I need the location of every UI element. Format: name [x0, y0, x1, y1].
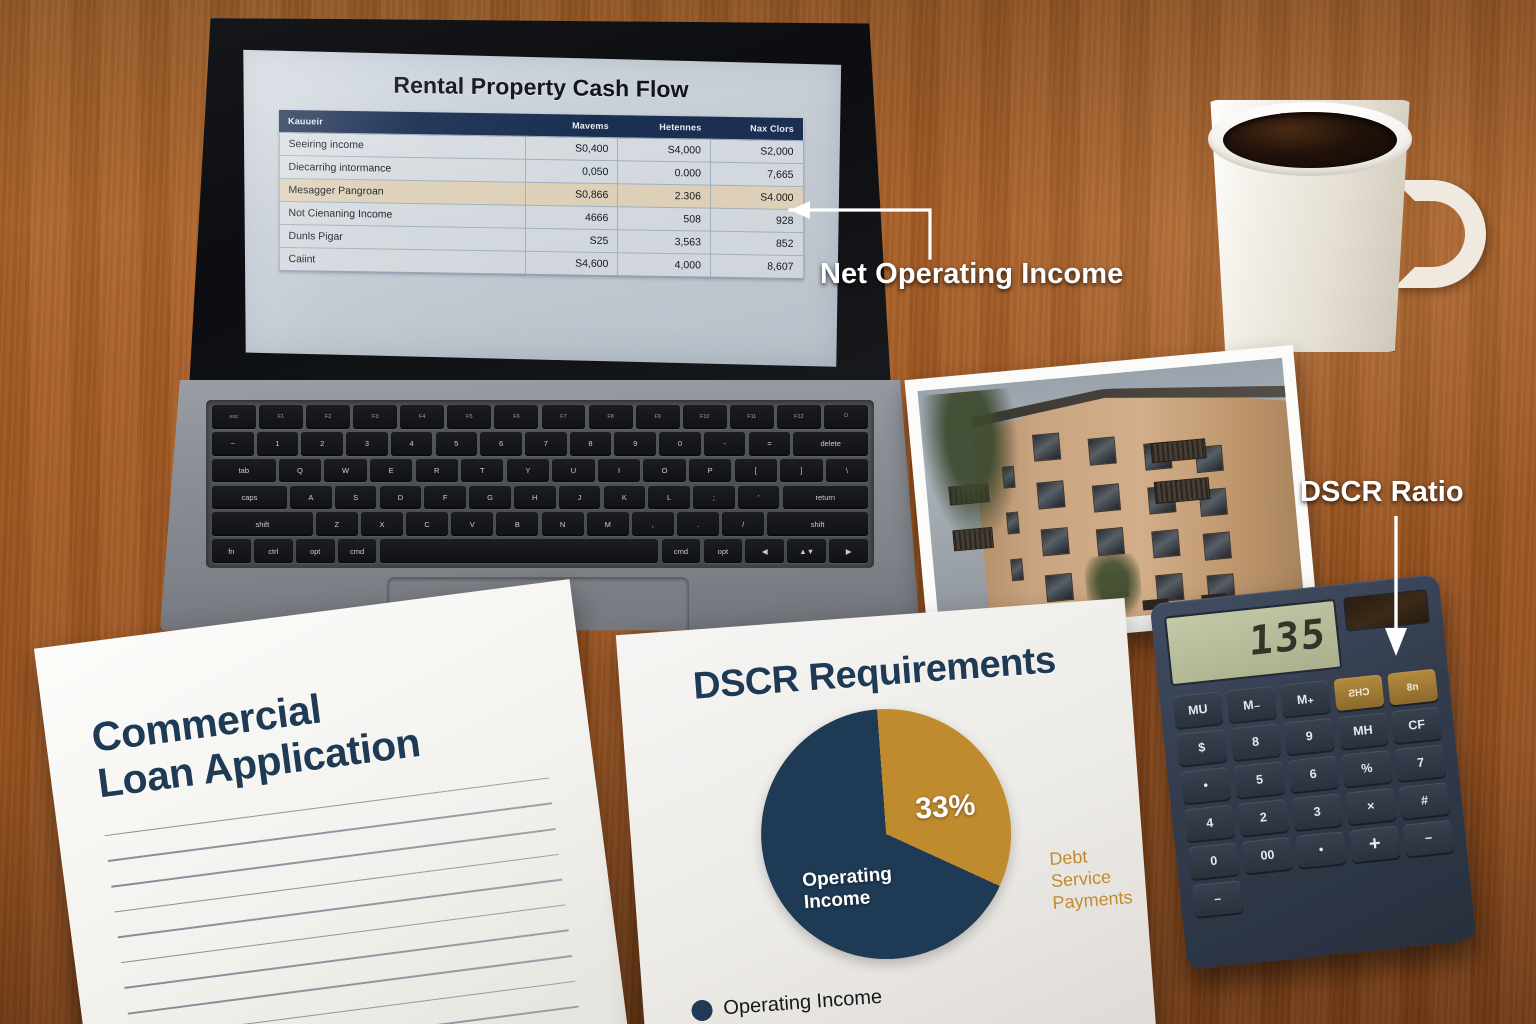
annotation-net-operating-income: Net Operating Income: [820, 258, 1123, 291]
keyboard-key[interactable]: shift: [767, 512, 868, 536]
pie-slice-percent-label: 33%: [914, 788, 976, 826]
chart-legend: Operating Income: [691, 968, 1124, 1023]
keyboard-key[interactable]: X: [361, 512, 403, 536]
loan-document-title: Commercial Loan Application: [89, 658, 545, 807]
keyboard-key[interactable]: G: [469, 486, 511, 510]
keyboard-key[interactable]: 6: [480, 432, 522, 456]
keyboard-key[interactable]: F4: [400, 405, 444, 429]
keyboard-key[interactable]: ◀: [745, 539, 784, 563]
row-value: S4.000: [710, 185, 803, 209]
pie-slices: [752, 700, 1020, 968]
coffee-mug: [1196, 92, 1496, 360]
desktop-calculator[interactable]: 135 MUM₋M₊ƧHƆ8n$89MHCF•56%7423×#000•+−–: [1150, 574, 1477, 970]
keyboard-function-row[interactable]: escF1F2F3F4F5F6F7F8F9F10F11F12⏻: [212, 405, 868, 429]
keyboard-key[interactable]: return: [783, 486, 868, 510]
keyboard-key[interactable]: cmd: [662, 539, 701, 563]
row-value: 3,563: [618, 230, 711, 254]
col-header-1: Mavems: [525, 114, 618, 138]
row-value: S4,600: [525, 251, 618, 276]
keyboard-key[interactable]: shift: [212, 512, 313, 536]
coffee-surface: [1223, 112, 1397, 168]
loan-form-blank-lines: [105, 777, 586, 1024]
form-blank-line: [108, 803, 552, 862]
form-blank-line: [128, 955, 572, 1014]
laptop: Rental Property Cash Flow Kauueir Mavems…: [160, 18, 920, 658]
calculator-keypad[interactable]: MUM₋M₊ƧHƆ8n$89MHCF•56%7423×#000•+−–: [1172, 669, 1458, 917]
keyboard-key[interactable]: M: [587, 512, 629, 536]
row-value: 2.306: [618, 184, 711, 208]
calculator-key[interactable]: 00: [1242, 837, 1293, 874]
col-header-2: Hetennes: [618, 115, 711, 139]
keyboard-key[interactable]: E: [370, 459, 412, 483]
calculator-display: 135: [1164, 599, 1342, 687]
calculator-key[interactable]: CF: [1391, 706, 1442, 743]
calculator-key[interactable]: $: [1176, 729, 1227, 766]
calculator-key[interactable]: +: [1349, 826, 1400, 863]
keyboard-row-qwerty[interactable]: tabQWERTYUIOP[]\: [212, 459, 868, 483]
keyboard-key[interactable]: F11: [730, 405, 774, 429]
keyboard-key[interactable]: opt: [704, 539, 743, 563]
keyboard-key[interactable]: F9: [636, 405, 680, 429]
row-value: S0,400: [525, 136, 618, 160]
keyboard-key[interactable]: F2: [306, 405, 350, 429]
laptop-screen[interactable]: Rental Property Cash Flow Kauueir Mavems…: [236, 47, 846, 369]
keyboard-key[interactable]: cmd: [338, 539, 377, 563]
form-blank-line: [114, 853, 558, 912]
keyboard-key[interactable]: 0: [659, 432, 701, 456]
keyboard-key[interactable]: T: [461, 459, 503, 483]
keyboard-key[interactable]: F8: [589, 405, 633, 429]
keyboard-key[interactable]: \: [826, 459, 868, 483]
row-value: 7,665: [710, 162, 803, 186]
annotation-dscr-ratio: DSCR Ratio: [1300, 476, 1464, 509]
keyboard-key[interactable]: delete: [793, 432, 868, 456]
keyboard-key[interactable]: caps: [212, 486, 287, 510]
legend-color-swatch: [691, 999, 713, 1021]
form-blank-line: [118, 879, 562, 938]
keyboard-key[interactable]: A: [290, 486, 332, 510]
solar-panel: [1343, 589, 1430, 632]
keyboard-key[interactable]: opt: [296, 539, 335, 563]
slide-title: Rental Property Cash Flow: [260, 70, 822, 106]
calculator-key[interactable]: %: [1341, 750, 1392, 787]
dscr-document-title: DSCR Requirements: [648, 636, 1100, 712]
keyboard-key[interactable]: 8: [570, 432, 612, 456]
keyboard-row-bottom-letters[interactable]: shiftZXCVBNM,./shift: [212, 512, 868, 536]
row-value: S0,866: [525, 182, 618, 206]
keyboard-key[interactable]: B: [496, 512, 538, 536]
keyboard-key[interactable]: L: [648, 486, 690, 510]
keyboard-key[interactable]: ': [738, 486, 780, 510]
keyboard-key[interactable]: O: [643, 459, 685, 483]
legend-label: Operating Income: [723, 986, 883, 1021]
calculator-key[interactable]: ƧHƆ: [1333, 674, 1384, 711]
keyboard-key[interactable]: ;: [693, 486, 735, 510]
spreadsheet-slide: Rental Property Cash Flow Kauueir Mavems…: [236, 47, 846, 369]
keyboard-key[interactable]: C: [406, 512, 448, 536]
calculator-key[interactable]: 8n: [1387, 669, 1438, 706]
keyboard-key[interactable]: F10: [683, 405, 727, 429]
keyboard-modifier-row[interactable]: fnctrloptcmdcmdopt◀▲▼▶: [212, 539, 868, 563]
row-value: 852: [710, 231, 803, 255]
form-blank-line: [124, 930, 568, 989]
keyboard-number-row[interactable]: ~1234567890-=delete: [212, 432, 868, 456]
calculator-key[interactable]: 7: [1395, 744, 1446, 781]
keyboard-key[interactable]: ▲▼: [787, 539, 826, 563]
keyboard-key[interactable]: ⏻: [824, 405, 868, 429]
keyboard-key[interactable]: 9: [614, 432, 656, 456]
calculator-key[interactable]: 4: [1184, 805, 1235, 842]
mug-handle: [1394, 180, 1486, 288]
row-value: 928: [710, 208, 803, 232]
calculator-display-value: 135: [1248, 611, 1327, 666]
row-value: 4,000: [618, 253, 711, 278]
keyboard-key[interactable]: esc: [212, 405, 256, 429]
row-value: S25: [525, 228, 618, 252]
keyboard-key[interactable]: [: [735, 459, 777, 483]
keyboard-key[interactable]: tab: [212, 459, 276, 483]
row-value: 0,050: [525, 159, 618, 183]
keyboard-key[interactable]: I: [598, 459, 640, 483]
calculator-key[interactable]: 9: [1284, 718, 1335, 755]
calculator-key[interactable]: #: [1399, 782, 1450, 819]
calculator-top: 135: [1164, 589, 1434, 686]
calculator-key[interactable]: MH: [1337, 712, 1388, 749]
dscr-pie-chart: 33% Operating Income Debt Service Paymen…: [752, 700, 1020, 968]
calculator-key[interactable]: M₋: [1226, 686, 1277, 723]
calculator-key[interactable]: 2: [1238, 799, 1289, 836]
calculator-key[interactable]: –: [1192, 880, 1243, 917]
calculator-key[interactable]: 3: [1292, 793, 1343, 830]
keyboard-key[interactable]: ~: [212, 432, 254, 456]
row-value: 4666: [525, 205, 618, 229]
form-blank-line: [131, 980, 575, 1024]
row-value: S4,000: [618, 138, 711, 162]
keyboard-key[interactable]: 3: [346, 432, 388, 456]
commercial-loan-application-document[interactable]: Commercial Loan Application: [34, 579, 630, 1024]
keyboard-key[interactable]: V: [451, 512, 493, 536]
row-value: 8,607: [710, 254, 803, 279]
col-header-3: Nax Clors: [710, 117, 803, 141]
keyboard-key[interactable]: 4: [391, 432, 433, 456]
keyboard-key[interactable]: ctrl: [254, 539, 293, 563]
keyboard-key[interactable]: 2: [301, 432, 343, 456]
keyboard-key[interactable]: 5: [436, 432, 478, 456]
keyboard-key[interactable]: P: [689, 459, 731, 483]
row-value: 0.000: [618, 161, 711, 185]
keyboard-key[interactable]: S: [335, 486, 377, 510]
keyboard-key[interactable]: K: [604, 486, 646, 510]
row-value: S2,000: [710, 139, 803, 163]
keyboard-key[interactable]: F3: [353, 405, 397, 429]
tree-foliage-left: [918, 387, 1026, 546]
form-blank-line: [121, 904, 565, 963]
calculator-key[interactable]: −: [1403, 820, 1454, 857]
keyboard-key[interactable]: W: [324, 459, 366, 483]
photo-image: [918, 358, 1305, 634]
keyboard-key[interactable]: F12: [777, 405, 821, 429]
keyboard-key[interactable]: F1: [259, 405, 303, 429]
keyboard-key[interactable]: /: [722, 512, 764, 536]
keyboard-key[interactable]: 7: [525, 432, 567, 456]
calculator-key[interactable]: M₊: [1280, 680, 1331, 717]
keyboard-key[interactable]: -: [704, 432, 746, 456]
keyboard-key[interactable]: J: [559, 486, 601, 510]
form-blank-line: [111, 828, 555, 887]
calculator-key[interactable]: •: [1296, 831, 1347, 868]
laptop-lid: Rental Property Cash Flow Kauueir Mavems…: [182, 18, 898, 386]
keyboard-key[interactable]: H: [514, 486, 556, 510]
pie-slice-label-debt-service: Debt Service Payments: [1049, 843, 1134, 915]
keyboard-key[interactable]: ▶: [829, 539, 868, 563]
keyboard-key[interactable]: ,: [632, 512, 674, 536]
keyboard-key[interactable]: Z: [316, 512, 358, 536]
keyboard-key[interactable]: U: [552, 459, 594, 483]
calculator-key[interactable]: 5: [1234, 761, 1285, 798]
calculator-key[interactable]: 6: [1288, 756, 1339, 793]
keyboard-row-home[interactable]: capsASDFGHJKL;'return: [212, 486, 868, 510]
keyboard-key[interactable]: R: [416, 459, 458, 483]
row-value: 508: [618, 207, 711, 231]
calculator-key[interactable]: ×: [1345, 788, 1396, 825]
keyboard-key[interactable]: [380, 539, 659, 563]
keyboard-key[interactable]: =: [749, 432, 791, 456]
calculator-key[interactable]: 8: [1230, 723, 1281, 760]
row-label: Caiint: [279, 247, 525, 274]
keyboard-key[interactable]: D: [380, 486, 422, 510]
keyboard-key[interactable]: .: [677, 512, 719, 536]
keyboard-key[interactable]: fn: [212, 539, 251, 563]
desk-scene: Rental Property Cash Flow Kauueir Mavems…: [0, 0, 1536, 1024]
dscr-requirements-document[interactable]: DSCR Requirements 33% Operating Income D…: [616, 598, 1158, 1024]
cash-flow-table[interactable]: Kauueir Mavems Hetennes Nax Clors Seeiri…: [279, 110, 804, 280]
keyboard-key[interactable]: Q: [279, 459, 321, 483]
keyboard-key[interactable]: 1: [257, 432, 299, 456]
keyboard-key[interactable]: F5: [447, 405, 491, 429]
calculator-key[interactable]: 0: [1188, 842, 1239, 879]
keyboard-key[interactable]: Y: [507, 459, 549, 483]
keyboard-key[interactable]: F7: [542, 405, 586, 429]
keyboard-key[interactable]: N: [542, 512, 584, 536]
pie-slice-label-operating-income: Operating Income: [802, 864, 895, 913]
calculator-key[interactable]: MU: [1172, 691, 1223, 728]
laptop-keyboard[interactable]: escF1F2F3F4F5F6F7F8F9F10F11F12⏻ ~1234567…: [206, 400, 874, 568]
keyboard-key[interactable]: F: [424, 486, 466, 510]
keyboard-key[interactable]: ]: [780, 459, 822, 483]
calculator-key[interactable]: •: [1180, 767, 1231, 804]
keyboard-key[interactable]: F6: [494, 405, 538, 429]
